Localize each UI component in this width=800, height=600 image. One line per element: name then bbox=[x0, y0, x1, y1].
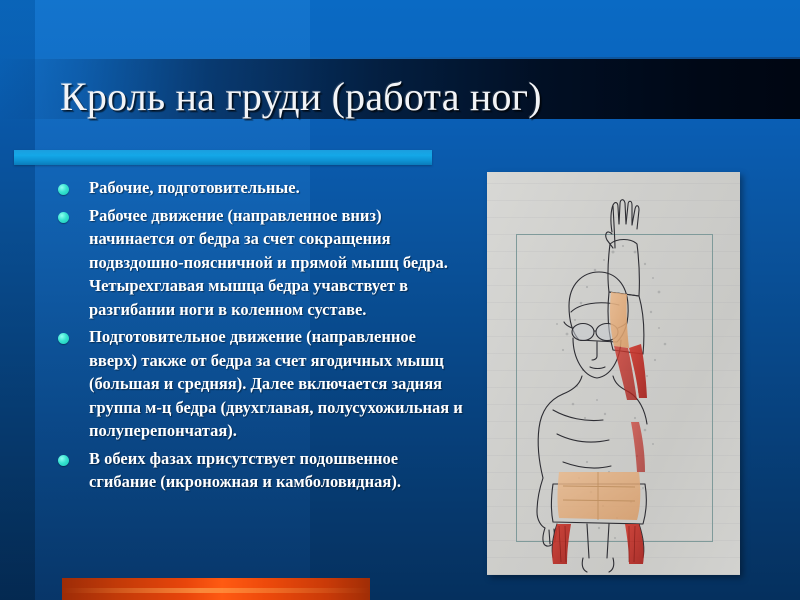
bullet-text: Рабочее движение (направленное вниз) нач… bbox=[89, 204, 466, 322]
chest-line bbox=[553, 410, 603, 421]
right-lower-leg bbox=[609, 558, 614, 572]
mouth bbox=[590, 367, 605, 369]
illustration-photo bbox=[487, 172, 740, 575]
shoulder-left bbox=[538, 394, 563, 478]
bullet-dot-icon bbox=[58, 184, 69, 195]
list-item: Рабочие, подготовительные. bbox=[58, 176, 466, 200]
raised-hand bbox=[606, 200, 639, 248]
bullet-dot-icon bbox=[58, 455, 69, 466]
bullet-text: В обеих фазах присутствует подошвенное с… bbox=[89, 447, 466, 494]
presentation-slide: Кроль на груди (работа ног) Рабочие, под… bbox=[0, 0, 800, 600]
list-item: Рабочее движение (направленное вниз) нач… bbox=[58, 204, 466, 322]
list-item: В обеих фазах присутствует подошвенное с… bbox=[58, 447, 466, 494]
footer-bar-sheen bbox=[62, 588, 370, 593]
left-arm bbox=[537, 478, 545, 528]
bullet-dot-icon bbox=[58, 333, 69, 344]
footer-accent-bar bbox=[62, 578, 370, 600]
bullet-text: Подготовительное движение (направленное … bbox=[89, 325, 466, 443]
left-lower-leg bbox=[582, 558, 587, 572]
accent-bar bbox=[14, 150, 432, 165]
page-title: Кроль на груди (работа ног) bbox=[60, 72, 740, 122]
swimmer-illustration bbox=[487, 172, 740, 575]
bullet-text: Рабочие, подготовительные. bbox=[89, 176, 466, 200]
neck-left bbox=[563, 376, 582, 394]
bullet-dot-icon bbox=[58, 212, 69, 223]
bullet-list: Рабочие, подготовительные. Рабочее движе… bbox=[58, 176, 466, 498]
list-item: Подготовительное движение (направленное … bbox=[58, 325, 466, 443]
